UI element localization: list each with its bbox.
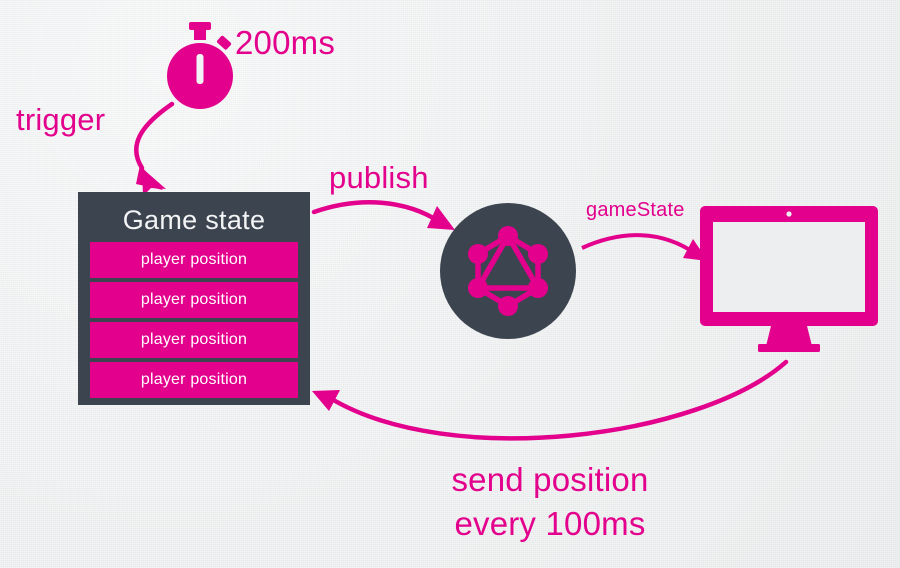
- send-position-line-2: every 100ms: [358, 502, 742, 546]
- player-position-row: player position: [90, 362, 298, 398]
- stopwatch-icon: [158, 22, 242, 110]
- send-position-label: send position every 100ms: [358, 458, 742, 546]
- trigger-label: trigger: [16, 102, 105, 138]
- diagram-canvas: Game state player position player positi…: [0, 0, 900, 568]
- send-position-arrow: [312, 362, 786, 438]
- publish-label: publish: [329, 160, 429, 196]
- publish-arrow: [314, 202, 455, 230]
- game-state-title: Game state: [90, 198, 298, 242]
- graphql-node: [440, 203, 576, 339]
- graphql-logo-icon: [440, 203, 576, 339]
- trigger-arrow: [136, 104, 172, 196]
- player-position-row: player position: [90, 322, 298, 358]
- game-state-box: Game state player position player positi…: [78, 192, 310, 405]
- gamestate-arrow: [582, 235, 708, 261]
- desktop-monitor-icon: [698, 204, 880, 354]
- send-position-line-1: send position: [358, 458, 742, 502]
- gamestate-label: gameState: [586, 199, 685, 222]
- player-position-row: player position: [90, 282, 298, 318]
- timer-label: 200ms: [235, 24, 335, 62]
- player-position-row: player position: [90, 242, 298, 278]
